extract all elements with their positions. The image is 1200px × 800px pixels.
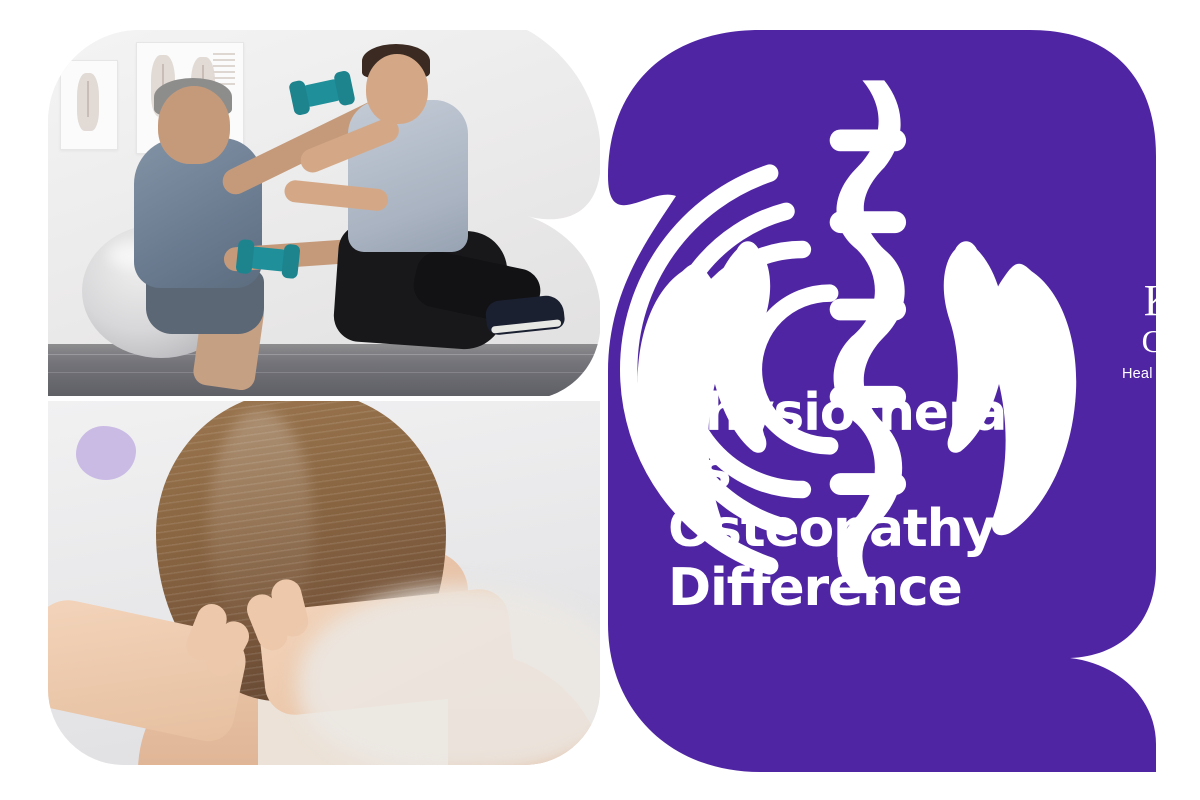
brand-tagline: Heal ▪ Transform ▪ Empower (1122, 366, 1200, 382)
photo-physiotherapy-session (48, 30, 600, 396)
headline-line-4: Difference (668, 559, 1120, 617)
brand-name-line2: CLINIC (1142, 325, 1200, 359)
page-title: Physiotherapy vs Osteopathy Difference (668, 384, 1120, 617)
headline-line-3: Osteopathy (668, 500, 1120, 558)
photo-neck-massage (48, 401, 600, 765)
photo-collage (48, 30, 600, 765)
brand-wordmark: KIRAN CLINIC Heal ▪ Transform ▪ Empower (1122, 280, 1200, 382)
purple-content-panel: KIRAN CLINIC Heal ▪ Transform ▪ Empower … (600, 24, 1164, 772)
therapist-head (366, 54, 428, 124)
headline-line-2: vs (668, 442, 1120, 500)
headline-line-1: Physiotherapy (668, 384, 1120, 442)
therapist-torso (348, 100, 468, 252)
promo-banner: KIRAN CLINIC Heal ▪ Transform ▪ Empower … (0, 0, 1200, 800)
patient-head (158, 86, 230, 164)
anatomy-poster-small (60, 60, 118, 150)
dumbbell-lower (247, 246, 289, 272)
brand-name-line1: KIRAN (1144, 280, 1200, 322)
